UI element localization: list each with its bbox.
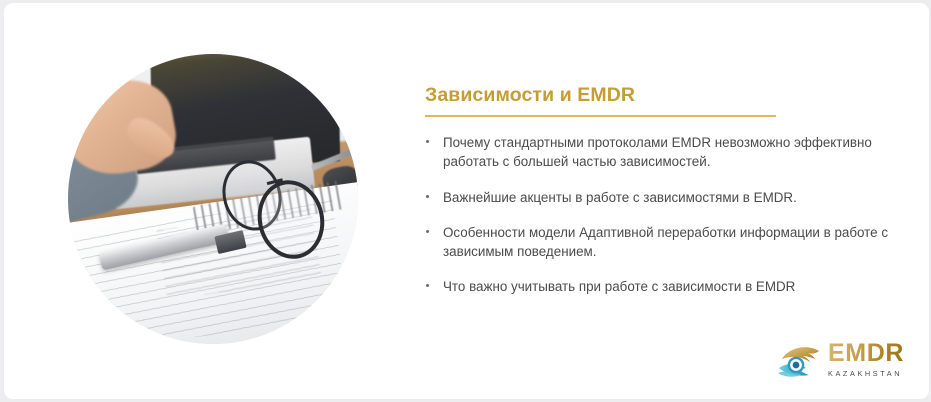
slide-card: Зависимости и EMDR Почему стандартными п… — [4, 3, 929, 399]
bullet-dot-icon — [426, 195, 429, 198]
emdr-kazakhstan-logo: EMDR KAZAKHSTAN — [776, 340, 924, 388]
list-item: Почему стандартными протоколами EMDR нев… — [421, 133, 891, 171]
bullet-dot-icon — [426, 140, 429, 143]
photo-circle — [62, 50, 364, 352]
title-underline — [425, 115, 776, 117]
bullet-dot-icon — [426, 230, 429, 233]
bullet-list: Почему стандартными протоколами EMDR нев… — [421, 133, 891, 295]
logo-text-block: EMDR KAZAKHSTAN — [828, 341, 924, 378]
logo-wordmark: EMDR — [828, 341, 924, 366]
eye-hand-wave-icon — [776, 342, 824, 384]
list-item-text: Важнейшие акценты в работе с зависимостя… — [443, 190, 797, 205]
list-item: Что важно учитывать при работе с зависим… — [421, 277, 891, 296]
list-item-text: Особенности модели Адаптивной переработк… — [443, 225, 888, 259]
list-item-text: Почему стандартными протоколами EMDR нев… — [443, 135, 872, 169]
list-item: Важнейшие акценты в работе с зависимостя… — [421, 188, 891, 207]
photo-gold-ring — [62, 50, 364, 352]
bullet-dot-icon — [426, 284, 429, 287]
list-item: Особенности модели Адаптивной переработк… — [421, 223, 891, 261]
content-column: Зависимости и EMDR Почему стандартными п… — [421, 85, 891, 296]
logo-subtitle: KAZAKHSTAN — [828, 369, 924, 378]
list-item-text: Что важно учитывать при работе с зависим… — [443, 279, 795, 294]
page-title: Зависимости и EMDR — [425, 85, 891, 106]
